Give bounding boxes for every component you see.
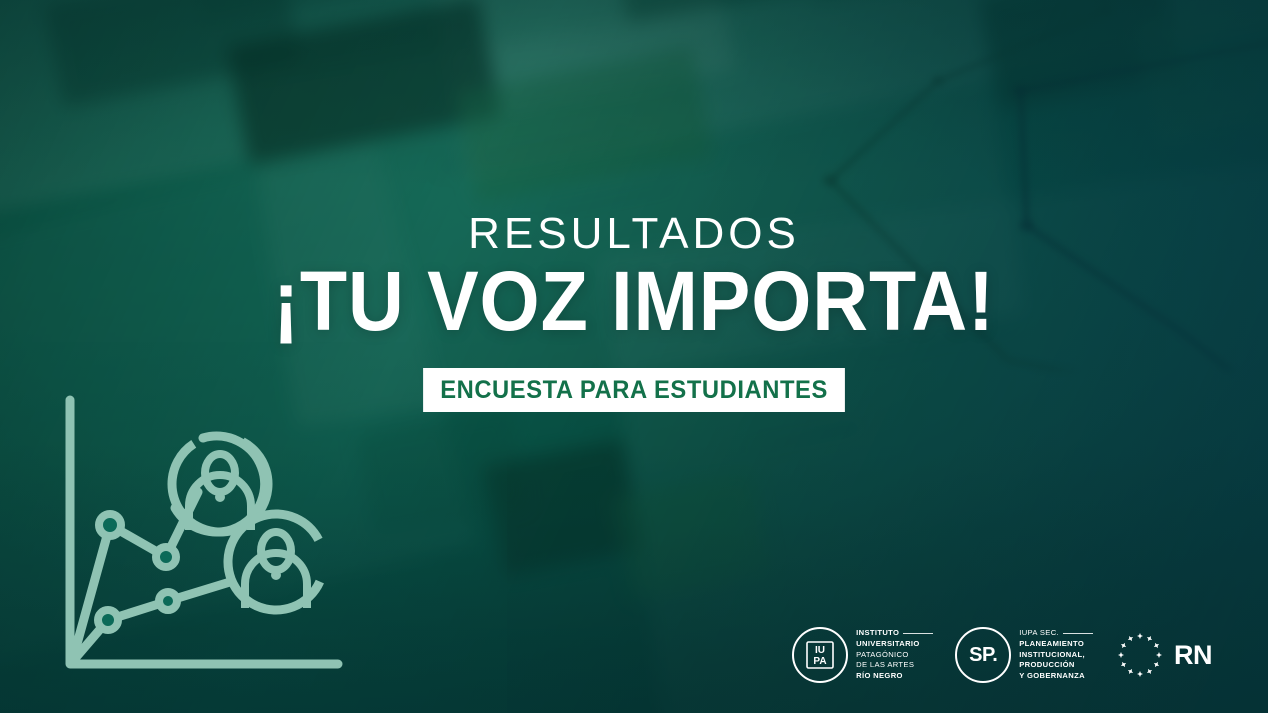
iupa-line-0: INSTITUTO [856, 628, 933, 639]
sp-line-1: PLANEAMIENTO [1019, 639, 1093, 650]
kicker-text: RESULTADOS [0, 212, 1268, 256]
rn-wordmark: RN [1174, 640, 1212, 671]
iupa-line-1: UNIVERSITARIO [856, 639, 933, 650]
divider [1063, 633, 1093, 634]
sp-monogram-text: SP. [969, 644, 997, 667]
sp-circle-mark: SP. [955, 627, 1011, 683]
svg-text:PA: PA [814, 656, 827, 667]
iupa-wordmark: INSTITUTO UNIVERSITARIO PATAGÓNICO DE LA… [856, 628, 933, 682]
sp-line-0: IUPA SEC. [1019, 628, 1093, 639]
sp-wordmark: IUPA SEC. PLANEAMIENTO INSTITUCIONAL, PR… [1019, 628, 1093, 682]
chart-data-point [159, 592, 177, 610]
chart-people-illustration [48, 392, 348, 692]
iupa-line-3: DE LAS ARTES [856, 660, 933, 671]
slide-root: RESULTADOS ¡TU VOZ IMPORTA! ENCUESTA PAR… [0, 0, 1268, 713]
page-title: ¡TU VOZ IMPORTA! [51, 262, 1218, 342]
sp-line-4: Y GOBERNANZA [1019, 671, 1093, 682]
logo-strip: IU PA INSTITUTO UNIVERSITARIO PATAGÓNICO… [792, 627, 1212, 683]
subtitle-banner: ENCUESTA PARA ESTUDIANTES [423, 368, 845, 412]
stars-circle-icon [1115, 630, 1165, 680]
iupa-monogram-icon: IU PA [805, 639, 835, 671]
person-avatar-lower [213, 499, 340, 626]
logo-iupa: IU PA INSTITUTO UNIVERSITARIO PATAGÓNICO… [792, 627, 933, 683]
logo-sp: SP. IUPA SEC. PLANEAMIENTO INSTITUCIONAL… [955, 627, 1093, 683]
chart-data-point [98, 610, 118, 630]
divider [903, 633, 933, 634]
chart-data-point [156, 547, 176, 567]
logo-rio-negro: RN [1115, 630, 1212, 680]
chart-data-point [99, 514, 121, 536]
banner-row: ENCUESTA PARA ESTUDIANTES [0, 368, 1268, 412]
sp-line-3: PRODUCCIÓN [1019, 660, 1093, 671]
iupa-line-2: PATAGÓNICO [856, 650, 933, 661]
headline-block: RESULTADOS ¡TU VOZ IMPORTA! ENCUESTA PAR… [0, 212, 1268, 412]
iupa-circle-mark: IU PA [792, 627, 848, 683]
sp-line-2: INSTITUCIONAL, [1019, 650, 1093, 661]
svg-text:IU: IU [815, 645, 825, 656]
iupa-line-4: RÍO NEGRO [856, 671, 933, 682]
